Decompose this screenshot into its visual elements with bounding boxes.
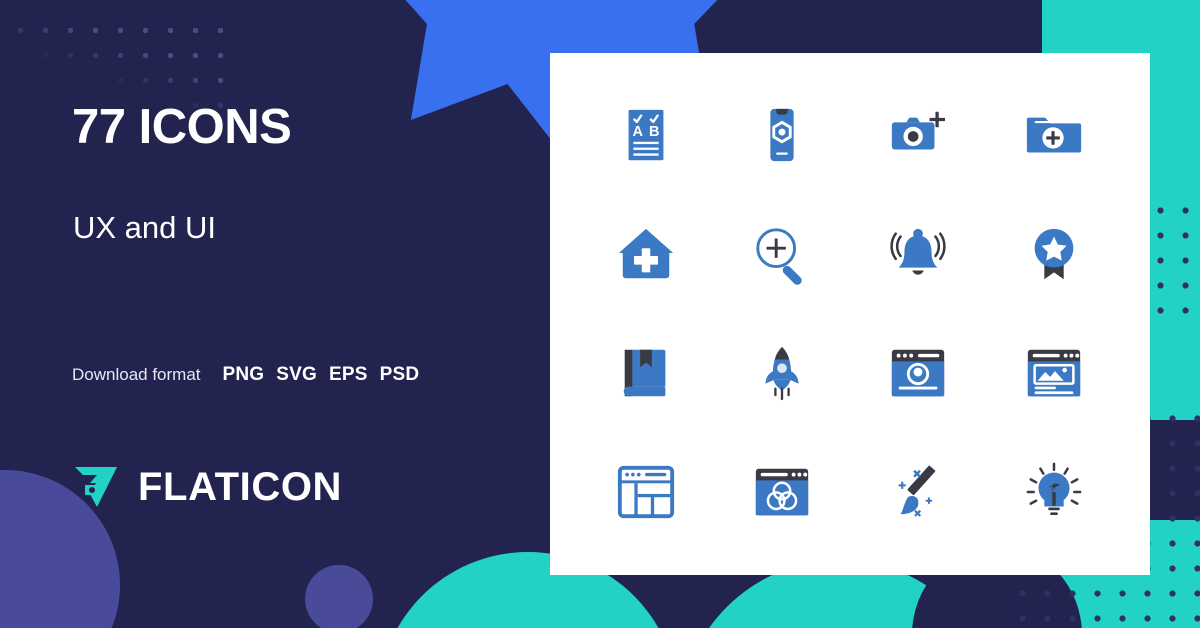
icon-preview-card: A B bbox=[550, 53, 1150, 575]
icon-cell[interactable] bbox=[850, 313, 986, 432]
icon-cell[interactable] bbox=[714, 432, 850, 551]
left-content-panel: 77 ICONS UX and UI Download format PNG S… bbox=[0, 0, 552, 628]
ab-testing-document-icon: A B bbox=[615, 104, 677, 166]
icon-cell[interactable] bbox=[578, 432, 714, 551]
icon-cell[interactable] bbox=[850, 75, 986, 194]
format-png[interactable]: PNG bbox=[223, 364, 265, 386]
mobile-settings-icon bbox=[751, 104, 813, 166]
rocket-launch-icon bbox=[751, 342, 813, 404]
icon-cell[interactable] bbox=[850, 194, 986, 313]
star-award-badge-icon bbox=[1023, 223, 1085, 285]
icon-cell[interactable] bbox=[850, 432, 986, 551]
flaticon-logo-mark-icon bbox=[72, 463, 124, 511]
paint-brush-icon bbox=[887, 461, 949, 523]
icon-cell[interactable] bbox=[986, 313, 1122, 432]
download-format-label: Download format bbox=[72, 365, 201, 385]
icon-cell[interactable] bbox=[986, 75, 1122, 194]
bookmarked-book-icon bbox=[615, 342, 677, 404]
flaticon-brand[interactable]: FLATICON bbox=[72, 463, 342, 511]
page-title: 77 ICONS bbox=[72, 103, 291, 152]
icon-cell[interactable] bbox=[578, 194, 714, 313]
banner-stage: 77 ICONS UX and UI Download format PNG S… bbox=[0, 0, 1200, 628]
color-palette-browser-icon bbox=[751, 461, 813, 523]
add-photo-camera-icon bbox=[887, 104, 949, 166]
browser-profile-icon bbox=[887, 342, 949, 404]
format-eps[interactable]: EPS bbox=[329, 364, 368, 386]
format-psd[interactable]: PSD bbox=[380, 364, 420, 386]
zoom-in-icon bbox=[751, 223, 813, 285]
icon-cell[interactable]: A B bbox=[578, 75, 714, 194]
icon-cell[interactable] bbox=[714, 194, 850, 313]
icon-cell[interactable] bbox=[714, 313, 850, 432]
download-format-list: PNG SVG EPS PSD bbox=[223, 364, 420, 386]
page-subtitle: UX and UI bbox=[73, 212, 216, 243]
format-svg[interactable]: SVG bbox=[276, 364, 317, 386]
icon-cell[interactable] bbox=[578, 313, 714, 432]
add-folder-icon bbox=[1023, 104, 1085, 166]
download-format-row: Download format PNG SVG EPS PSD bbox=[72, 364, 419, 386]
notification-bell-icon bbox=[887, 223, 949, 285]
icon-cell[interactable] bbox=[986, 194, 1122, 313]
idea-lightbulb-icon bbox=[1023, 461, 1085, 523]
browser-image-icon bbox=[1023, 342, 1085, 404]
icon-grid: A B bbox=[550, 53, 1150, 575]
svg-text:B: B bbox=[649, 123, 659, 139]
wireframe-layout-icon bbox=[615, 461, 677, 523]
home-medical-icon bbox=[615, 223, 677, 285]
svg-text:A: A bbox=[633, 123, 644, 139]
icon-cell[interactable] bbox=[986, 432, 1122, 551]
flaticon-brand-name: FLATICON bbox=[138, 467, 342, 507]
icon-cell[interactable] bbox=[714, 75, 850, 194]
